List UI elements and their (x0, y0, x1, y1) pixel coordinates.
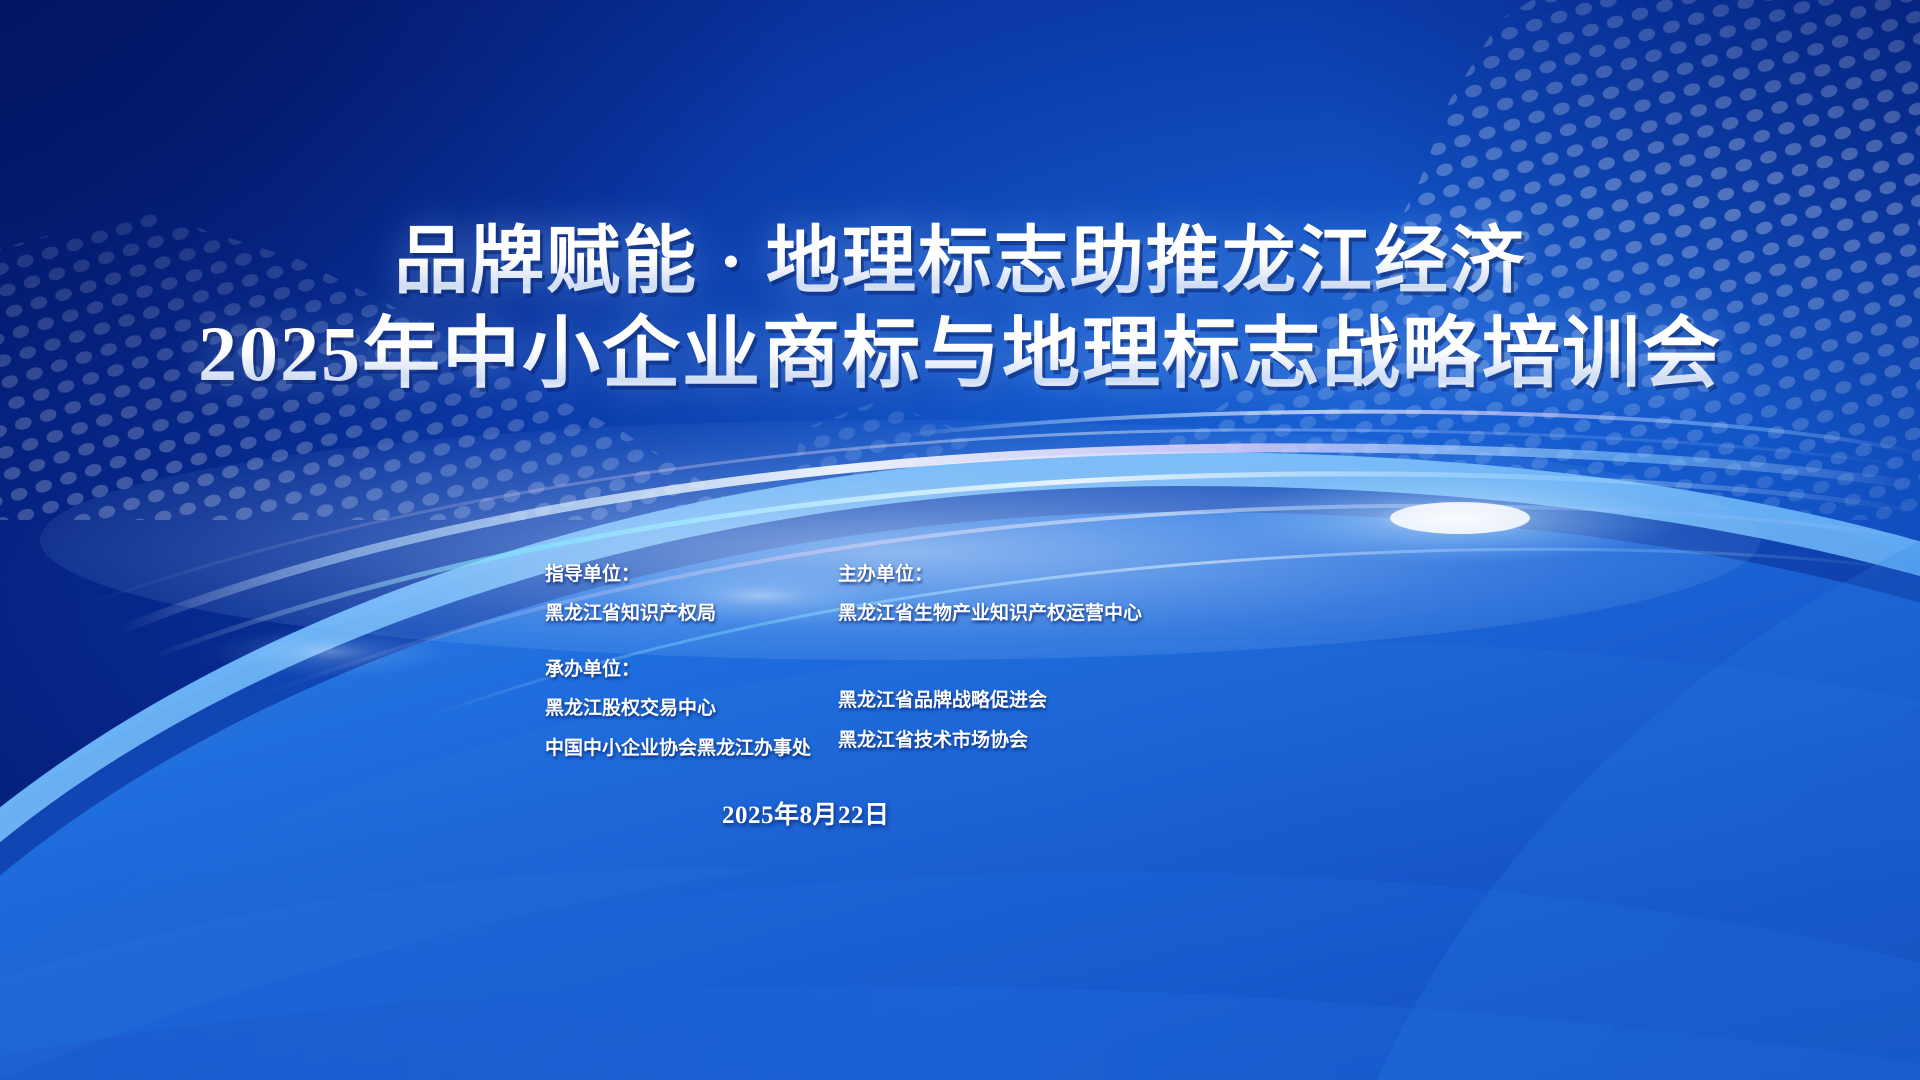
title-line-2: 2025年中小企业商标与地理标志战略培训会 (0, 311, 1920, 397)
executor-unit-column-left: 承办单位： 黑龙江股权交易中心 中国中小企业协会黑龙江办事处 (545, 660, 811, 758)
event-date: 2025年8月22日 (722, 795, 890, 831)
guidance-unit-column: 指导单位： 黑龙江省知识产权局 (545, 565, 716, 623)
organizers-section: 指导单位： 黑龙江省知识产权局 主办单位： 黑龙江省生物产业知识产权运营中心 承… (0, 555, 1920, 815)
event-banner: 品牌赋能 · 地理标志助推龙江经济 2025年中小企业商标与地理标志战略培训会 … (0, 0, 1920, 1080)
host-unit-item: 黑龙江省生物产业知识产权运营中心 (838, 604, 1142, 623)
executor-unit-column-right: 黑龙江省品牌战略促进会 黑龙江省技术市场协会 (838, 691, 1047, 750)
guidance-unit-label: 指导单位： (545, 565, 716, 584)
title-line-1: 品牌赋能 · 地理标志助推龙江经济 (0, 222, 1920, 303)
executor-unit-item-right-2: 黑龙江省技术市场协会 (838, 731, 1047, 750)
executor-unit-item-left-1: 黑龙江股权交易中心 (545, 699, 811, 718)
host-unit-label: 主办单位： (838, 565, 1142, 584)
banner-title-block: 品牌赋能 · 地理标志助推龙江经济 2025年中小企业商标与地理标志战略培训会 (0, 222, 1920, 397)
executor-unit-item-right-1: 黑龙江省品牌战略促进会 (838, 691, 1047, 710)
executor-unit-item-left-2: 中国中小企业协会黑龙江办事处 (545, 739, 811, 758)
host-unit-column: 主办单位： 黑龙江省生物产业知识产权运营中心 (838, 565, 1142, 623)
executor-unit-label: 承办单位： (545, 660, 811, 679)
banner-content: 品牌赋能 · 地理标志助推龙江经济 2025年中小企业商标与地理标志战略培训会 … (0, 0, 1920, 1080)
guidance-unit-item: 黑龙江省知识产权局 (545, 604, 716, 623)
